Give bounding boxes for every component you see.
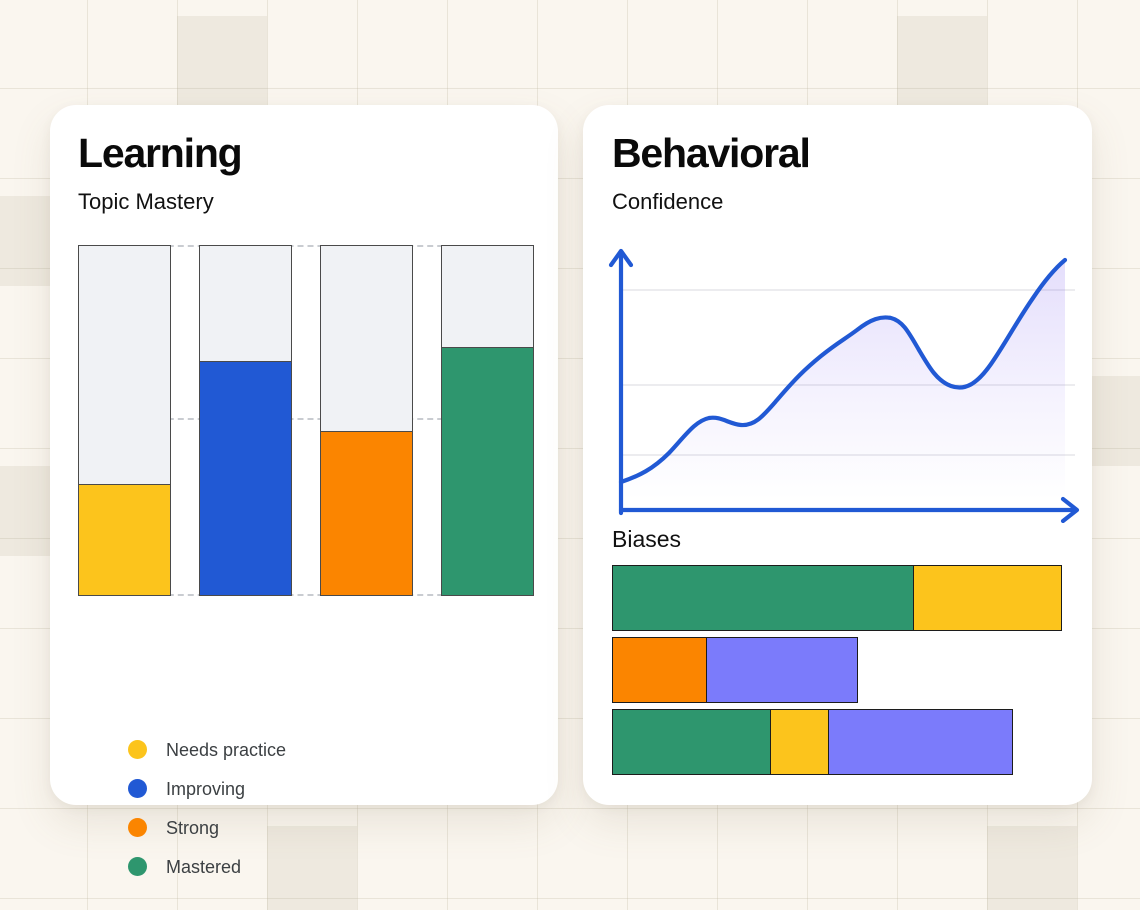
legend-dot-icon [128, 740, 147, 759]
topic-bar-3[interactable] [320, 245, 413, 596]
topic-bar-fill-strong [320, 431, 413, 596]
biases-row-1[interactable] [612, 565, 1072, 631]
biases-segment-needs-practice [770, 709, 830, 775]
biases-segment-violet [706, 637, 858, 703]
biases-segment-mastered [612, 565, 915, 631]
legend-item-strong[interactable]: Strong [128, 808, 286, 847]
behavioral-card: Behavioral Confidence [583, 105, 1092, 805]
biases-segment-violet [828, 709, 1013, 775]
behavioral-card-title: Behavioral [612, 133, 810, 174]
behavioral-card-subtitle: Confidence [612, 191, 723, 213]
biases-segment-mastered [612, 709, 772, 775]
biases-chart [612, 565, 1072, 781]
biases-row-3[interactable] [612, 709, 1072, 775]
topic-bar-4[interactable] [441, 245, 534, 596]
legend-item-improving[interactable]: Improving [128, 769, 286, 808]
legend-item-label: Mastered [166, 858, 241, 876]
background-cell [177, 16, 267, 106]
legend-item-mastered[interactable]: Mastered [128, 847, 286, 886]
topic-bar-fill-improving [199, 361, 292, 596]
legend-dot-icon [128, 857, 147, 876]
mastery-legend: Needs practice Improving Strong Mastered [128, 730, 286, 886]
learning-card: Learning Topic Mastery Needs practice [50, 105, 558, 805]
confidence-chart-svg [599, 238, 1089, 523]
topic-bar-fill-needs-practice [78, 484, 171, 596]
legend-dot-icon [128, 779, 147, 798]
topic-bar-fill-mastered [441, 347, 534, 596]
biases-row-2[interactable] [612, 637, 1072, 703]
learning-card-title: Learning [78, 133, 242, 174]
legend-item-label: Needs practice [166, 741, 286, 759]
legend-item-label: Improving [166, 780, 245, 798]
legend-item-needs-practice[interactable]: Needs practice [128, 730, 286, 769]
confidence-chart[interactable] [599, 238, 1089, 523]
biases-segment-strong [612, 637, 708, 703]
biases-segment-needs-practice [913, 565, 1062, 631]
confidence-area-fill [621, 260, 1065, 500]
topic-mastery-chart [78, 245, 533, 596]
background-cell [987, 826, 1077, 910]
learning-card-subtitle: Topic Mastery [78, 191, 214, 213]
topic-bar-2[interactable] [199, 245, 292, 596]
topic-bar-1[interactable] [78, 245, 171, 596]
legend-item-label: Strong [166, 819, 219, 837]
biases-heading: Biases [612, 528, 681, 551]
legend-dot-icon [128, 818, 147, 837]
background-cell [897, 16, 987, 106]
